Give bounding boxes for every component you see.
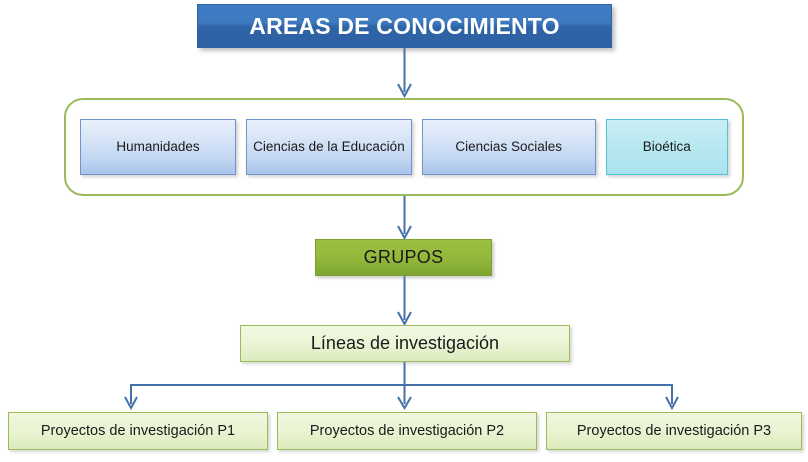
connector-layer (0, 0, 808, 462)
areas-de-conocimiento-banner: AREAS DE CONOCIMIENTO (197, 4, 612, 48)
areas-row: Humanidades Ciencias de la Educación Cie… (66, 100, 742, 194)
area-box-ciencias-sociales: Ciencias Sociales (422, 119, 596, 175)
proyecto-label: Proyectos de investigación P3 (577, 423, 771, 439)
proyecto-label: Proyectos de investigación P2 (310, 423, 504, 439)
connector-lineas-to-proyectos (125, 362, 678, 408)
connector-grupos-to-lineas (398, 276, 411, 324)
area-box-bioetica: Bioética (606, 119, 728, 175)
connector-banner-to-areas (398, 48, 411, 96)
proyecto-box-p1: Proyectos de investigación P1 (8, 412, 268, 450)
proyecto-label: Proyectos de investigación P1 (41, 423, 235, 439)
area-box-label: Ciencias Sociales (455, 139, 562, 156)
lineas-label: Líneas de investigación (311, 333, 499, 354)
area-box-label: Ciencias de la Educación (253, 139, 405, 156)
grupos-box: GRUPOS (315, 239, 492, 276)
areas-group-container: Humanidades Ciencias de la Educación Cie… (64, 98, 744, 196)
area-box-label: Humanidades (116, 139, 199, 156)
proyecto-box-p3: Proyectos de investigación P3 (546, 412, 802, 450)
proyecto-box-p2: Proyectos de investigación P2 (277, 412, 537, 450)
area-box-humanidades: Humanidades (80, 119, 236, 175)
banner-title: AREAS DE CONOCIMIENTO (249, 13, 559, 40)
area-box-ciencias-de-la-educacion: Ciencias de la Educación (246, 119, 412, 175)
connector-areas-to-grupos (398, 196, 411, 238)
lineas-de-investigacion-box: Líneas de investigación (240, 325, 570, 362)
area-box-label: Bioética (643, 139, 691, 156)
diagram-canvas: AREAS DE CONOCIMIENTO Humanidades Cienci… (0, 0, 808, 462)
grupos-label: GRUPOS (364, 247, 444, 268)
